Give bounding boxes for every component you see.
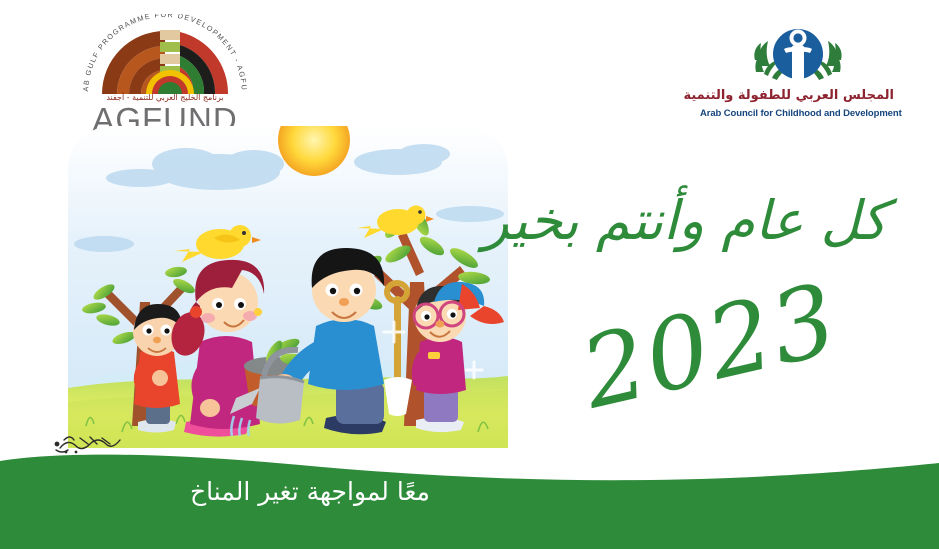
year-text: 2023: [537, 256, 883, 437]
children-planting-tree-illustration: [68, 126, 508, 448]
arab-council-emblem-icon: [750, 22, 846, 88]
illustration-artwork: [68, 126, 508, 448]
arab-council-english-name: Arab Council for Childhood and Developme…: [700, 108, 894, 119]
bottom-banner: معًا لمواجهة تغير المناخ: [0, 439, 939, 549]
arab-council-logo: المجلس العربي للطفولة والتنمية Arab Coun…: [700, 22, 894, 132]
agfund-logo: ARAB GULF PROGRAMME FOR DEVELOPMENT - AG…: [72, 14, 258, 132]
arab-council-arabic-name: المجلس العربي للطفولة والتنمية: [700, 88, 894, 103]
greeting-text: كل عام وأنتم بخير: [475, 186, 895, 256]
banner-slogan: معًا لمواجهة تغير المناخ: [0, 475, 620, 509]
agfund-emblem-icon: ARAB GULF PROGRAMME FOR DEVELOPMENT - AG…: [72, 14, 258, 96]
greeting-card: ARAB GULF PROGRAMME FOR DEVELOPMENT - AG…: [0, 0, 939, 549]
